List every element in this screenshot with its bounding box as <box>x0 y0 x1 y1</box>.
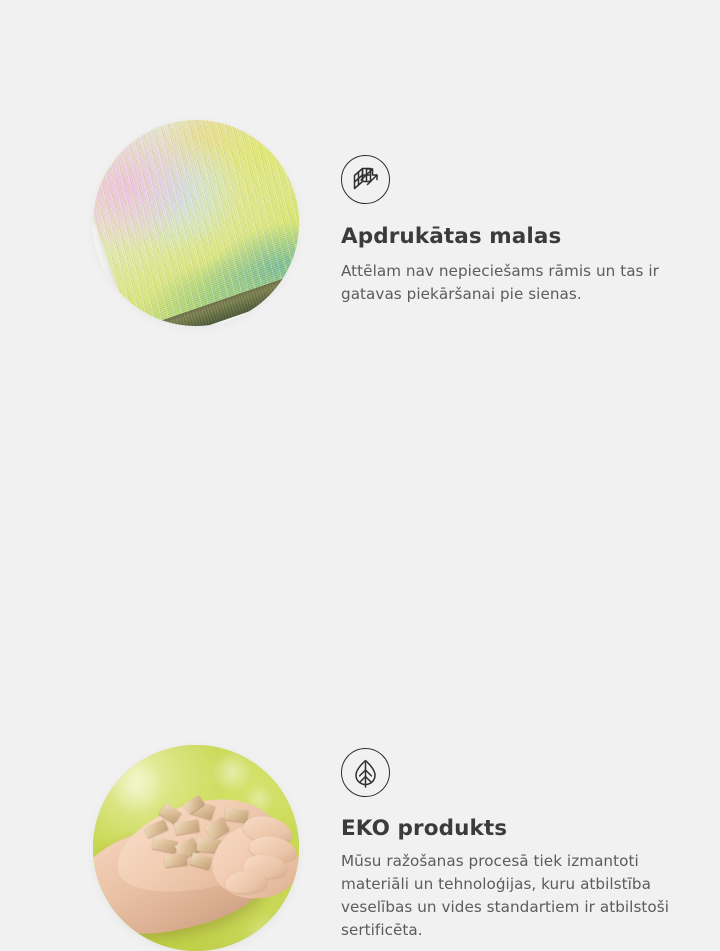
feature-title: EKO produkts <box>341 816 697 843</box>
printed-edges-icon <box>341 155 390 204</box>
feature-description: Attēlam nav nepieciešams rāmis un tas ir… <box>341 260 686 306</box>
wood-chip <box>174 819 199 834</box>
wood-chip <box>164 854 187 867</box>
leaf-icon <box>341 748 390 797</box>
feature-title: Apdrukātas malas <box>341 224 697 251</box>
wood-chip <box>190 852 213 869</box>
canvas-photo-background <box>93 120 299 326</box>
canvas-print-corner-photo <box>93 120 299 326</box>
wood-chip <box>144 819 169 837</box>
feature-description: Mūsu ražošanas procesā tiek izmantoti ma… <box>341 850 689 942</box>
feature-text-eco-product: EKO produkts Mūsu ražošanas procesā tiek… <box>341 748 697 942</box>
bokeh-highlight <box>213 753 251 791</box>
bokeh-highlight <box>243 913 287 951</box>
wood-chip <box>224 807 248 822</box>
product-features-panel: Apdrukātas malas Attēlam nav nepieciešam… <box>0 0 720 720</box>
canvas-print-panel <box>93 120 299 326</box>
feature-block-eco-product: EKO produkts Mūsu ražošanas procesā tiek… <box>0 360 720 720</box>
feature-block-printed-edges: Apdrukātas malas Attēlam nav nepieciešam… <box>0 0 720 360</box>
feature-text-printed-edges: Apdrukātas malas Attēlam nav nepieciešam… <box>341 155 697 306</box>
eco-photo-background <box>93 745 299 951</box>
hands-holding-wood-chips-photo <box>93 745 299 951</box>
